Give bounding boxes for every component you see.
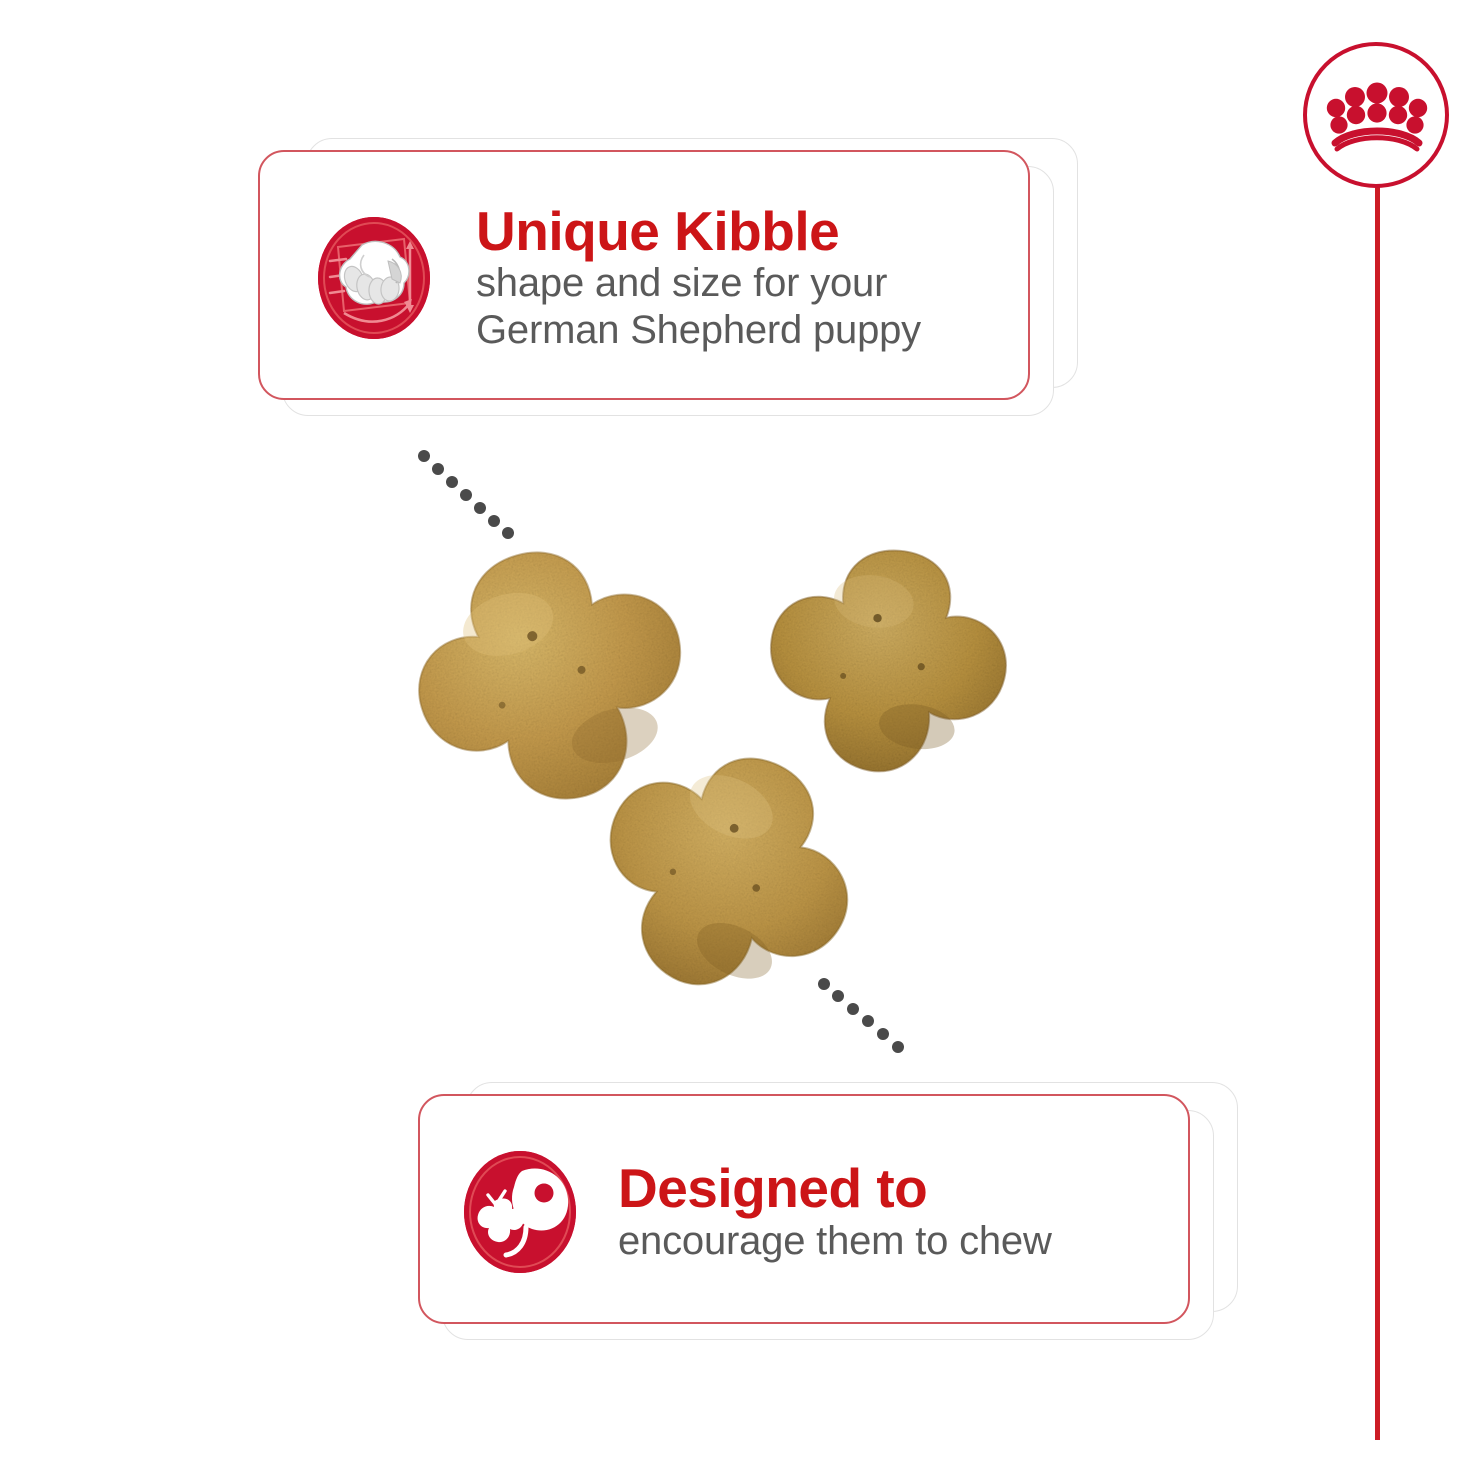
connector-dot [877, 1028, 889, 1040]
card-text-block: Designed to encourage them to chew [618, 1160, 1052, 1264]
connector-dot [862, 1015, 874, 1027]
connector-top [418, 450, 528, 530]
connector-bottom [818, 978, 918, 1058]
kibble-shape-measure-icon [318, 217, 430, 339]
connector-dot [418, 450, 430, 462]
card-title: Unique Kibble [476, 200, 839, 262]
poster-canvas: Unique Kibble shape and size for your Ge… [0, 0, 1460, 1460]
card-text-block: Unique Kibble shape and size for your Ge… [476, 203, 921, 353]
card-subtitle-line: shape and size for your [476, 260, 921, 306]
connector-dot [474, 502, 486, 514]
card-content: Designed to encourage them to chew [464, 1124, 1194, 1300]
card-subtitle-line: encourage them to chew [618, 1218, 1052, 1264]
card-subtitle: shape and size for your German Shepherd … [476, 260, 921, 353]
card-subtitle-line: German Shepherd puppy [476, 307, 921, 353]
connector-dot [432, 463, 444, 475]
crown-icon [1325, 80, 1429, 152]
feature-card-designed-to-chew[interactable]: Designed to encourage them to chew [418, 1080, 1248, 1370]
brand-vertical-rule [1375, 150, 1380, 1440]
card-subtitle: encourage them to chew [618, 1218, 1052, 1264]
dog-head-chewing-kibble-icon [464, 1151, 576, 1273]
feature-card-unique-kibble[interactable]: Unique Kibble shape and size for your Ge… [258, 130, 1088, 440]
connector-dot [847, 1003, 859, 1015]
connector-dot [460, 489, 472, 501]
connector-dot [446, 476, 458, 488]
german-shepherd-puppy-kibble-photo [390, 520, 1050, 1090]
connector-dot [832, 990, 844, 1002]
royal-canin-logo [1303, 42, 1455, 194]
card-title: Designed to [618, 1157, 927, 1219]
connector-dot [818, 978, 830, 990]
card-content: Unique Kibble shape and size for your Ge… [318, 180, 1038, 376]
connector-dot [892, 1041, 904, 1053]
